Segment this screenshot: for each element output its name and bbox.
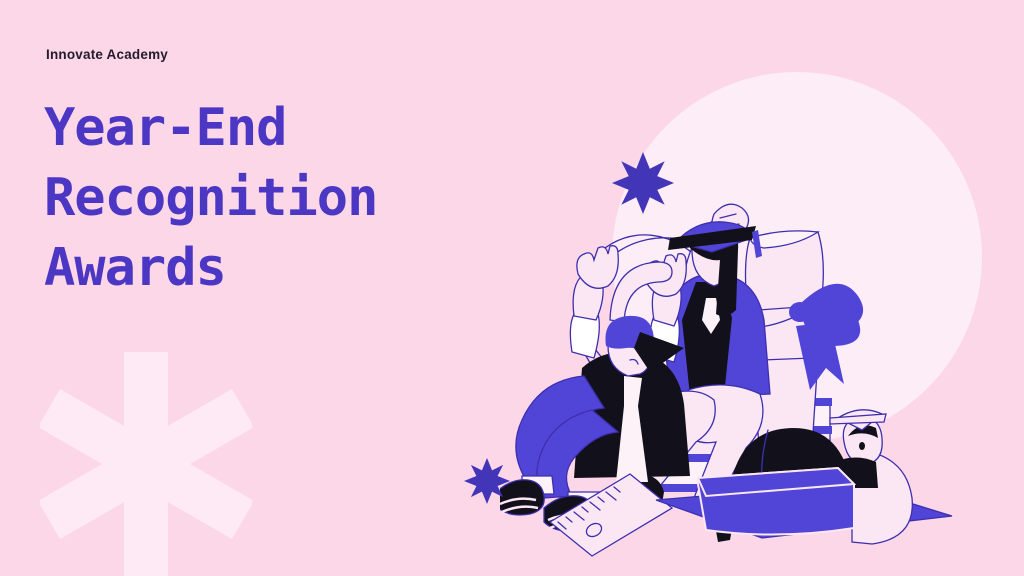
brand-name: Innovate Academy [46,47,168,62]
eight-point-star-icon-large [612,152,674,214]
presentation-slide: Innovate Academy Year-End Recognition Aw… [0,0,1024,576]
page-title: Year-End Recognition Awards [44,93,564,303]
graduation-celebration-illustration: .ink { fill:none; stroke:#3d2fae; stroke… [500,60,1024,576]
asterisk-six-point-icon [40,352,252,576]
eight-point-star-icon-small [464,458,510,504]
